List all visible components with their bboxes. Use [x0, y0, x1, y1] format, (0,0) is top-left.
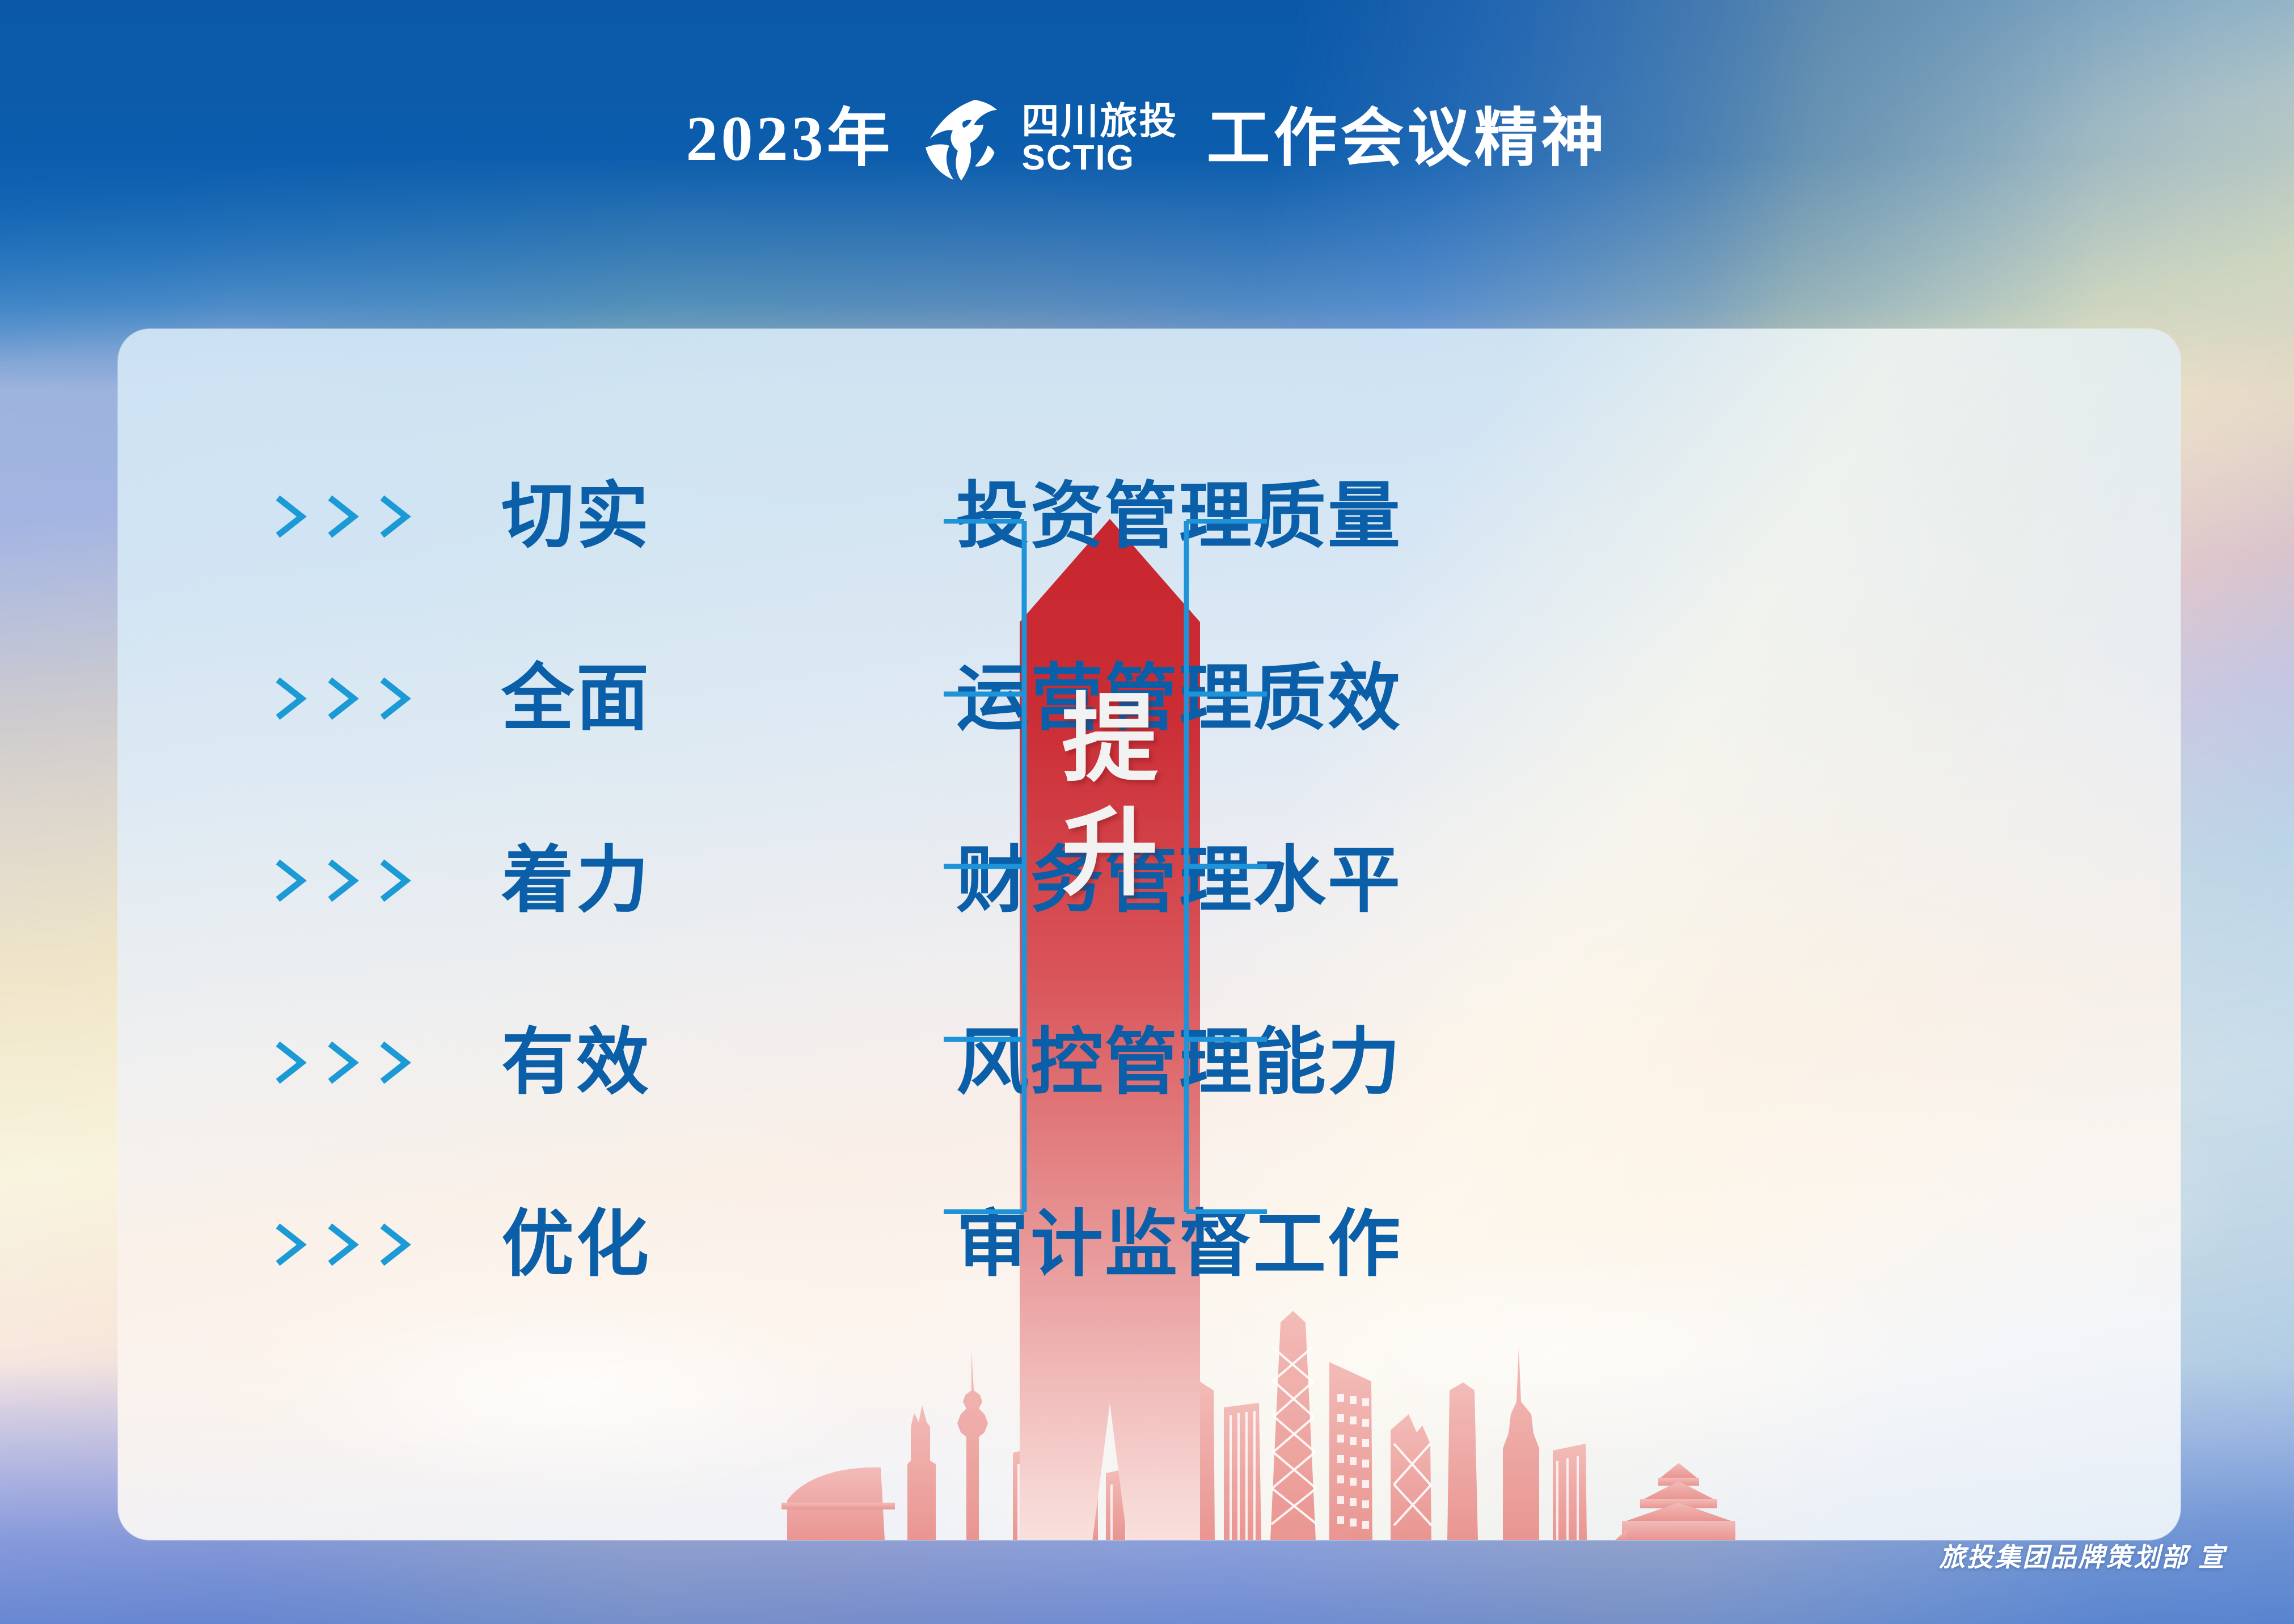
- chevron-right-icon: [378, 1041, 413, 1085]
- chevron-right-icon: [273, 858, 309, 903]
- footer-credit: 旅投集团品牌策划部 宣: [1939, 1537, 2226, 1574]
- point-right-label-1: 投资管理质量: [940, 480, 1402, 553]
- chevron-group-5: [273, 1223, 436, 1267]
- chevron-right-icon: [326, 1223, 361, 1267]
- point-left-label-4: 有效: [501, 1026, 651, 1099]
- point-left-label-3: 着力: [501, 844, 651, 917]
- point-right-label-3: 财务管理水平: [940, 844, 1402, 917]
- point-right-label-5: 审计监督工作: [940, 1208, 1402, 1281]
- globe-logo-icon: [922, 96, 1007, 181]
- chevron-right-icon: [378, 1223, 413, 1267]
- logo-cn-name: 四川旅投: [1022, 102, 1178, 139]
- main-content-card: 提 升 切实 投资管理质量: [118, 329, 2181, 1540]
- chevron-right-icon: [378, 494, 413, 539]
- header-title: 工作会议精神: [1207, 107, 1608, 171]
- chevron-group-3: [273, 858, 436, 903]
- chevron-right-icon: [326, 1041, 361, 1085]
- point-left-label-1: 切实: [501, 480, 651, 553]
- chevron-right-icon: [326, 494, 361, 539]
- chevron-group-4: [273, 1041, 436, 1085]
- chevron-right-icon: [273, 676, 309, 721]
- chevron-group-2: [273, 676, 436, 721]
- point-right-label-4: 风控管理能力: [940, 1026, 1402, 1099]
- chevron-right-icon: [273, 1041, 309, 1085]
- point-left-label-2: 全面: [501, 662, 651, 735]
- chevron-right-icon: [378, 676, 413, 721]
- point-left-label-5: 优化: [501, 1208, 651, 1281]
- chevron-right-icon: [273, 494, 309, 539]
- chevron-right-icon: [326, 676, 361, 721]
- logo-wordmark: 四川旅投 SCTIG: [1022, 102, 1178, 176]
- chevron-group-1: [273, 494, 436, 539]
- logo-en-name: SCTIG: [1022, 141, 1178, 176]
- header-year: 2023年: [686, 107, 894, 171]
- point-right-label-2: 运营管理质效: [940, 662, 1402, 735]
- page-header: 2023年 四川旅投 SCTIG 工作会议精神: [0, 85, 2294, 193]
- points-grid: 切实 投资管理质量 全面 运营管理质效 着力 财务管理水平 有效 风控管理能力: [118, 329, 2181, 1540]
- chevron-right-icon: [273, 1223, 309, 1267]
- chevron-right-icon: [378, 858, 413, 903]
- company-logo: 四川旅投 SCTIG: [922, 96, 1178, 181]
- chevron-right-icon: [326, 858, 361, 903]
